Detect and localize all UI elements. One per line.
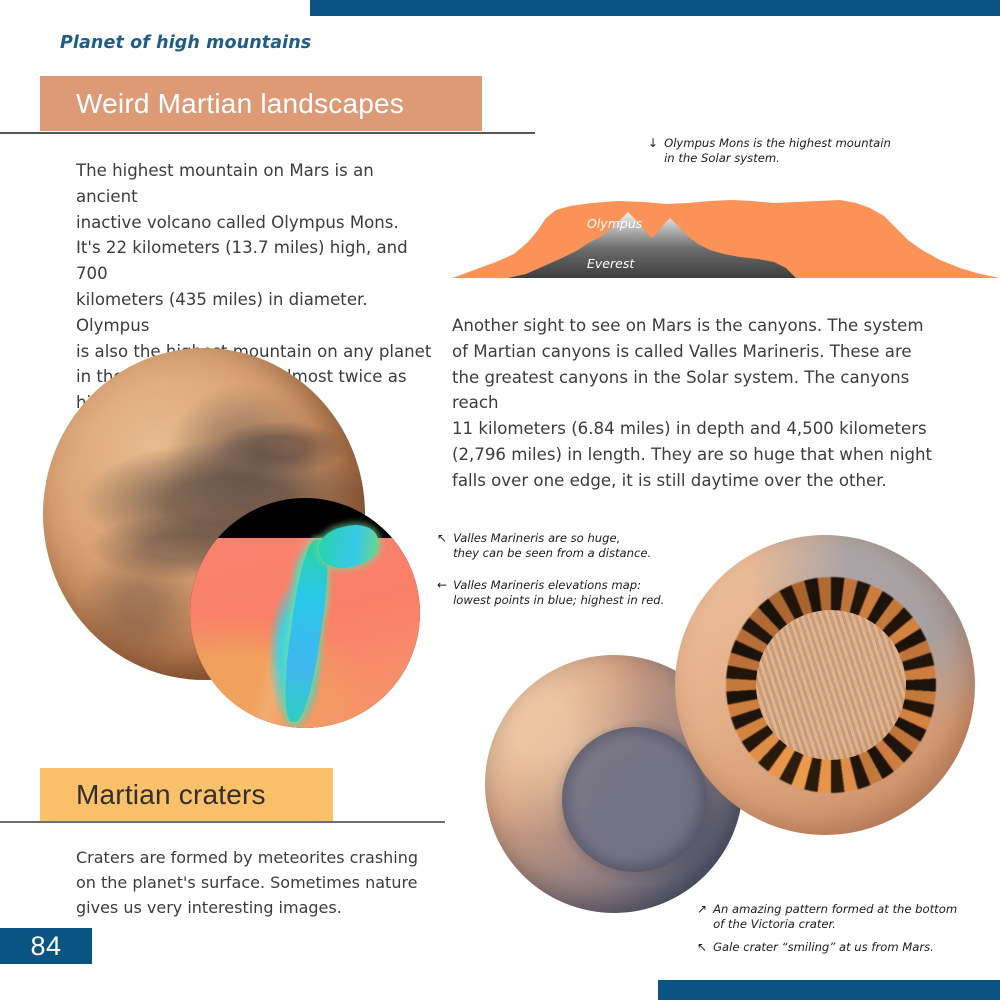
section-heading-landscapes: Weird Martian landscapes xyxy=(40,76,482,131)
diagram-label-olympus: Olympus xyxy=(587,216,642,231)
top-accent-bar xyxy=(310,0,1000,16)
caption-victoria-crater-text: An amazing pattern formed at the bottom … xyxy=(713,902,957,931)
paragraph-canyons: Another sight to see on Mars is the cany… xyxy=(452,313,942,494)
caption-olympus-mons: ↓ Olympus Mons is the highest mountain i… xyxy=(648,136,948,165)
bottom-accent-bar xyxy=(658,980,1000,1000)
arrow-up-left-icon: ↖ xyxy=(697,940,707,955)
olympus-profile-svg xyxy=(452,178,1000,278)
caption-valles-marineris-huge-text: Valles Marineris are so huge, they can b… xyxy=(453,531,651,560)
diagram-olympus-everest-profile: Olympus Everest xyxy=(452,178,1000,278)
diagram-label-everest: Everest xyxy=(587,256,634,271)
caption-valles-marineris-map: ← Valles Marineris elevations map: lowes… xyxy=(437,578,687,607)
victoria-crater-dune-floor xyxy=(756,610,906,760)
section-heading-craters-label: Martian craters xyxy=(76,779,266,811)
caption-victoria-crater: ↗ An amazing pattern formed at the botto… xyxy=(697,902,987,931)
caption-gale-crater-text: Gale crater “smiling” at us from Mars. xyxy=(713,940,934,955)
section-heading-landscapes-label: Weird Martian landscapes xyxy=(76,88,404,120)
arrow-down-icon: ↓ xyxy=(648,136,658,151)
section-heading-craters: Martian craters xyxy=(40,768,333,822)
caption-olympus-mons-text: Olympus Mons is the highest mountain in … xyxy=(664,136,891,165)
running-head: Planet of high mountains xyxy=(60,33,311,53)
arrow-up-right-icon: ↗ xyxy=(697,902,707,917)
arrow-up-left-icon: ↖ xyxy=(437,531,447,546)
gale-crater-floor xyxy=(562,727,706,871)
caption-gale-crater: ↖ Gale crater “smiling” at us from Mars. xyxy=(697,940,987,955)
caption-valles-marineris-map-text: Valles Marineris elevations map: lowest … xyxy=(453,578,664,607)
valles-marineris-elevation-map-image xyxy=(190,498,420,728)
heading-rule-craters xyxy=(0,821,445,823)
victoria-crater-image xyxy=(675,535,975,835)
caption-valles-marineris-huge: ↖ Valles Marineris are so huge, they can… xyxy=(437,531,687,560)
arrow-left-icon: ← xyxy=(437,578,447,593)
paragraph-craters: Craters are formed by meteorites crashin… xyxy=(76,845,436,920)
page-number-badge: 84 xyxy=(0,928,92,964)
heading-rule-landscapes xyxy=(0,132,535,134)
